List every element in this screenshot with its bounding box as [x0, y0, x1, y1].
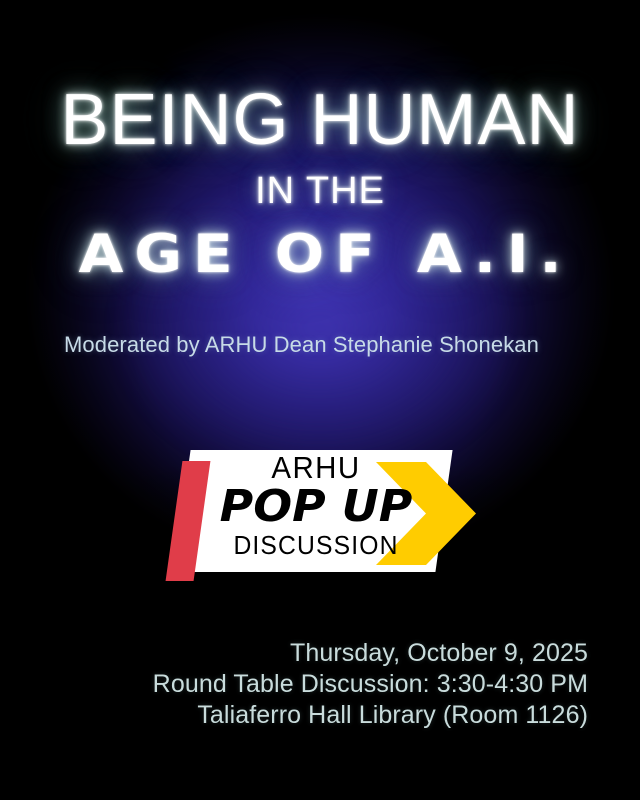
- logo-text-block: ARHU POP UP DISCUSSION: [203, 451, 429, 559]
- event-date: Thursday, October 9, 2025: [153, 638, 588, 669]
- logo-arhu-label: ARHU: [209, 451, 424, 484]
- logo-discussion-label: DISCUSSION: [209, 531, 424, 559]
- moderator-credit: Moderated by ARHU Dean Stephanie Shoneka…: [64, 331, 539, 359]
- arhu-pop-up-discussion-logo: ARHU POP UP DISCUSSION: [165, 443, 485, 583]
- event-details-block: Thursday, October 9, 2025 Round Table Di…: [153, 638, 588, 731]
- headline-line-2: IN THE: [0, 172, 640, 210]
- event-poster: BEING HUMAN IN THE AGE OF A.I. Moderated…: [0, 0, 640, 800]
- headline-line-1: BEING HUMAN: [0, 84, 640, 156]
- headline-line-3: AGE OF A.I.: [0, 228, 640, 280]
- logo-popup-label: POP UP: [198, 485, 433, 529]
- event-time: Round Table Discussion: 3:30-4:30 PM: [153, 669, 588, 700]
- event-location: Taliaferro Hall Library (Room 1126): [153, 700, 588, 731]
